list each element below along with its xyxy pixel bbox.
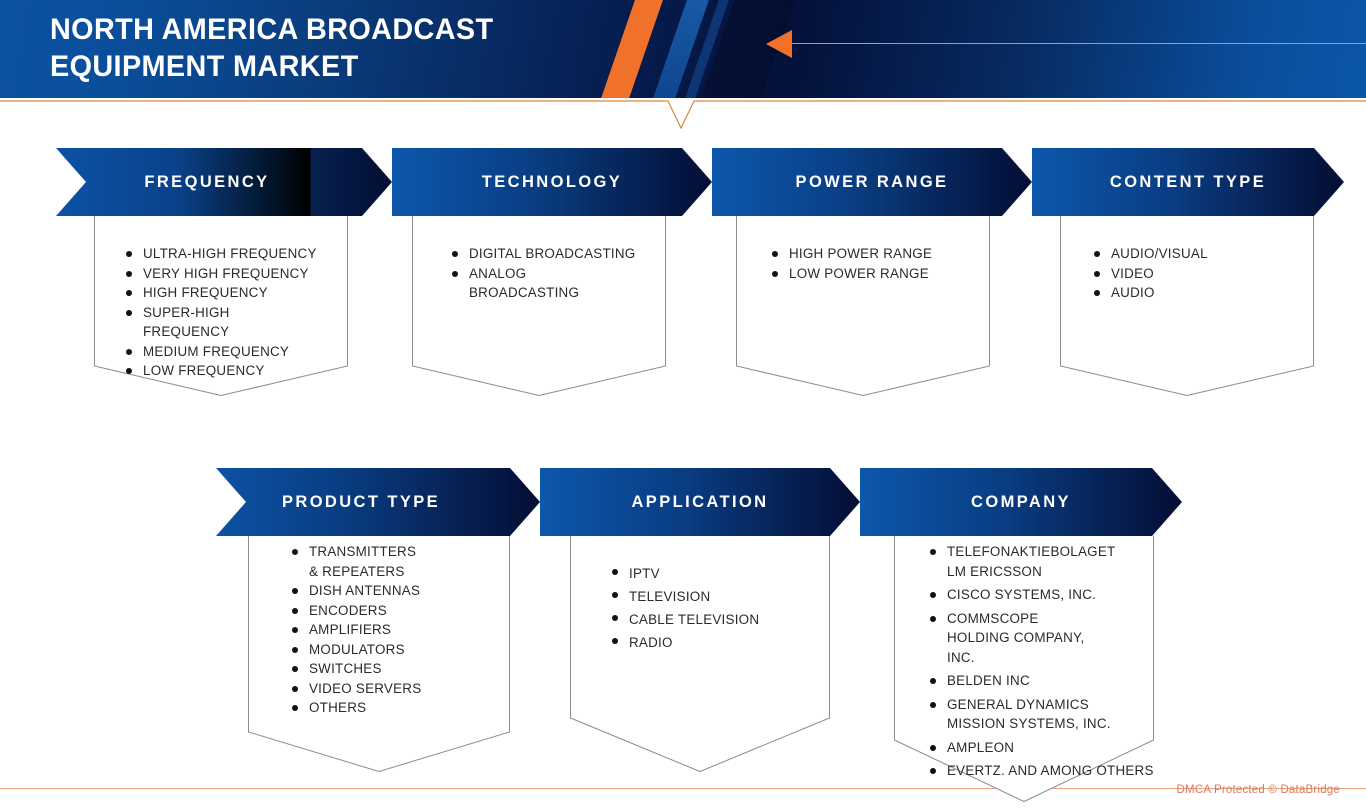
- card-list: TRANSMITTERS & REPEATERS DISH ANTENNAS E…: [248, 536, 510, 718]
- list-item: GENERAL DYNAMICS MISSION SYSTEMS, INC.: [930, 695, 1125, 734]
- list-item: OTHERS: [292, 698, 510, 718]
- list-item: MEDIUM FREQUENCY: [126, 342, 348, 362]
- card-list: AUDIO/VISUAL VIDEO AUDIO: [1060, 216, 1314, 303]
- list-item: MODULATORS: [292, 640, 510, 660]
- card-application: IPTV TELEVISION CABLE TELEVISION RADIO: [570, 536, 830, 772]
- footer-rule: [0, 788, 1366, 789]
- list-item: VERY HIGH FREQUENCY: [126, 264, 348, 284]
- banner-frequency[interactable]: FREQUENCY: [22, 148, 392, 216]
- banner-label: APPLICATION: [540, 493, 860, 512]
- list-item: EVERTZ. AND AMONG OTHERS: [930, 761, 1154, 781]
- card-list: TELEFONAKTIEBOLAGET LM ERICSSON CISCO SY…: [894, 536, 1154, 781]
- list-item: DISH ANTENNAS: [292, 581, 510, 601]
- list-item: ENCODERS: [292, 601, 510, 621]
- list-item: IPTV: [612, 562, 830, 585]
- card-list: DIGITAL BROADCASTING ANALOG BROADCASTING: [412, 216, 666, 303]
- card-frequency: ULTRA-HIGH FREQUENCY VERY HIGH FREQUENCY…: [94, 216, 348, 396]
- list-item: LOW FREQUENCY: [126, 361, 348, 381]
- banner-label: CONTENT TYPE: [1032, 173, 1344, 192]
- list-item: BELDEN INC: [930, 671, 1154, 691]
- infographic-page: NORTH AMERICA BROADCAST EQUIPMENT MARKET…: [0, 0, 1366, 808]
- list-item: CABLE TELEVISION: [612, 608, 830, 631]
- card-list: HIGH POWER RANGE LOW POWER RANGE: [736, 216, 990, 283]
- list-item: DIGITAL BROADCASTING: [452, 244, 666, 264]
- footer-credit: DMCA Protected © DataBridge: [1177, 784, 1340, 796]
- banner-label: FREQUENCY: [22, 173, 392, 192]
- banner-technology[interactable]: TECHNOLOGY: [392, 148, 712, 216]
- left-arrow-icon: [766, 30, 792, 58]
- banner-label: TECHNOLOGY: [392, 173, 712, 192]
- card-content-type: AUDIO/VISUAL VIDEO AUDIO: [1060, 216, 1314, 396]
- list-item: ULTRA-HIGH FREQUENCY: [126, 244, 348, 264]
- list-item: VIDEO SERVERS: [292, 679, 510, 699]
- card-product-type: TRANSMITTERS & REPEATERS DISH ANTENNAS E…: [248, 536, 510, 772]
- list-item: LOW POWER RANGE: [772, 264, 990, 284]
- card-list: ULTRA-HIGH FREQUENCY VERY HIGH FREQUENCY…: [94, 216, 348, 381]
- list-item: TELEFONAKTIEBOLAGET LM ERICSSON: [930, 542, 1110, 581]
- banner-company[interactable]: COMPANY: [860, 468, 1182, 536]
- card-company: TELEFONAKTIEBOLAGET LM ERICSSON CISCO SY…: [894, 536, 1154, 802]
- card-technology: DIGITAL BROADCASTING ANALOG BROADCASTING: [412, 216, 666, 396]
- list-item: AMPLIFIERS: [292, 620, 510, 640]
- header-divider: [0, 95, 1366, 135]
- page-title: NORTH AMERICA BROADCAST EQUIPMENT MARKET: [50, 11, 493, 85]
- card-power-range: HIGH POWER RANGE LOW POWER RANGE: [736, 216, 990, 396]
- banner-product-type[interactable]: PRODUCT TYPE: [182, 468, 540, 536]
- list-item: AUDIO: [1094, 283, 1314, 303]
- list-item: CISCO SYSTEMS, INC.: [930, 585, 1154, 605]
- list-item: AMPLEON: [930, 738, 1154, 758]
- list-item: ANALOG BROADCASTING: [452, 264, 552, 303]
- banner-label: COMPANY: [860, 493, 1182, 512]
- list-item: SUPER-HIGH FREQUENCY: [126, 303, 236, 342]
- list-item: HIGH POWER RANGE: [772, 244, 990, 264]
- list-item: AUDIO/VISUAL: [1094, 244, 1314, 264]
- list-item: HIGH FREQUENCY: [126, 283, 348, 303]
- list-item: SWITCHES: [292, 659, 510, 679]
- banner-application[interactable]: APPLICATION: [540, 468, 860, 536]
- banner-content-type[interactable]: CONTENT TYPE: [1032, 148, 1344, 216]
- list-item: TRANSMITTERS & REPEATERS: [292, 542, 412, 581]
- header-rule: [792, 43, 1366, 44]
- list-item: TELEVISION: [612, 585, 830, 608]
- list-item: RADIO: [612, 631, 830, 654]
- banner-label: PRODUCT TYPE: [182, 493, 540, 512]
- page-header: NORTH AMERICA BROADCAST EQUIPMENT MARKET: [0, 0, 1366, 98]
- card-list: IPTV TELEVISION CABLE TELEVISION RADIO: [570, 536, 830, 654]
- list-item: COMMSCOPE HOLDING COMPANY, INC.: [930, 609, 1090, 668]
- banner-label: POWER RANGE: [712, 173, 1032, 192]
- banner-power-range[interactable]: POWER RANGE: [712, 148, 1032, 216]
- list-item: VIDEO: [1094, 264, 1314, 284]
